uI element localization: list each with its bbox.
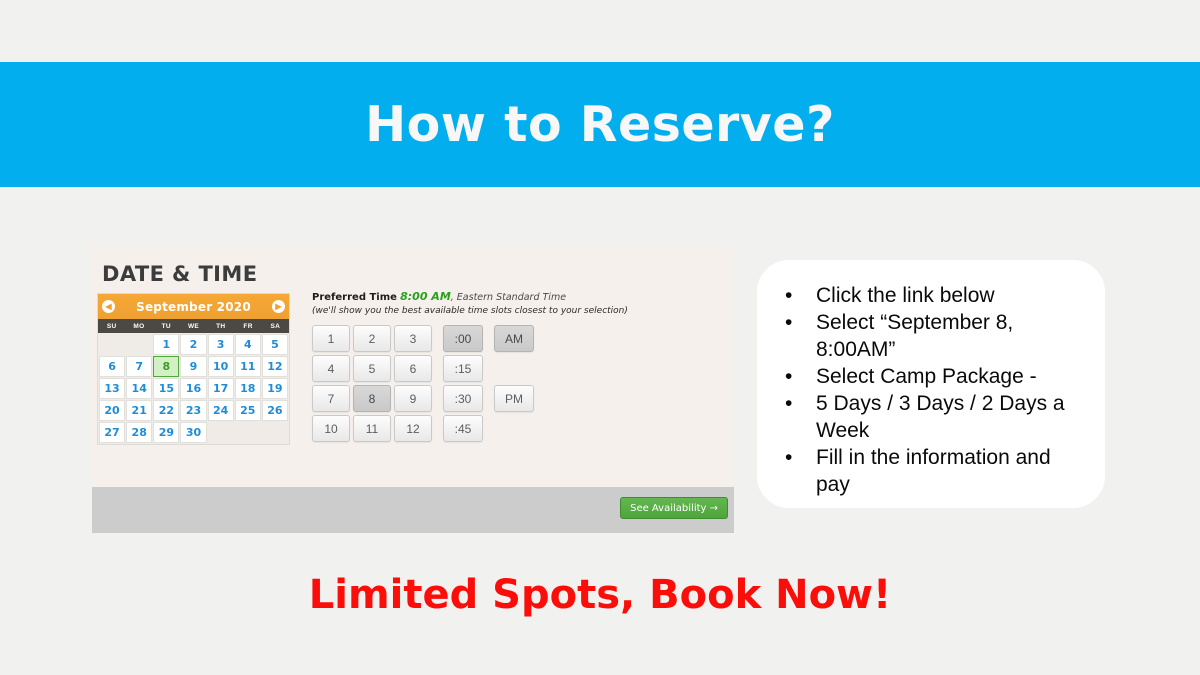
calendar-day[interactable]: 29 <box>153 422 179 443</box>
hour-button[interactable]: 2 <box>353 325 391 352</box>
footer-headline: Limited Spots, Book Now! <box>0 572 1200 618</box>
chevron-left-icon[interactable]: ◀ <box>102 300 115 313</box>
calendar-weekday: FR <box>234 319 261 333</box>
minute-button[interactable]: :15 <box>443 355 483 382</box>
hour-button[interactable]: 4 <box>312 355 350 382</box>
minute-button-column: :00:15:30:45 <box>443 325 483 442</box>
hour-button[interactable]: 3 <box>394 325 432 352</box>
calendar-day[interactable]: 25 <box>235 400 261 421</box>
calendar-weekday: SA <box>262 319 289 333</box>
calendar-weekday: TH <box>207 319 234 333</box>
calendar-day[interactable]: 23 <box>180 400 206 421</box>
instruction-text: 5 Days / 3 Days / 2 Days a Week <box>816 390 1089 444</box>
header-banner: How to Reserve? <box>0 62 1200 187</box>
hour-button[interactable]: 5 <box>353 355 391 382</box>
hour-button[interactable]: 11 <box>353 415 391 442</box>
bullet-icon: • <box>779 309 816 363</box>
calendar-day[interactable]: 27 <box>99 422 125 443</box>
calendar-day[interactable]: 22 <box>153 400 179 421</box>
calendar-weekday: WE <box>180 319 207 333</box>
calendar-day[interactable]: 1 <box>153 334 179 355</box>
hour-button-grid: 123456789101112 <box>312 325 432 442</box>
calendar: ◀ September 2020 ▶ SUMOTUWETHFRSA 123456… <box>97 293 290 445</box>
hour-button[interactable]: 9 <box>394 385 432 412</box>
calendar-day[interactable]: 20 <box>99 400 125 421</box>
hour-button[interactable]: 12 <box>394 415 432 442</box>
calendar-day[interactable]: 7 <box>126 356 152 377</box>
calendar-day[interactable]: 10 <box>208 356 234 377</box>
calendar-day[interactable]: 15 <box>153 378 179 399</box>
calendar-day[interactable]: 17 <box>208 378 234 399</box>
instruction-item: •Fill in the information and pay <box>779 444 1089 498</box>
calendar-day[interactable]: 9 <box>180 356 206 377</box>
page-title: How to Reserve? <box>365 96 835 153</box>
calendar-day[interactable]: 12 <box>262 356 288 377</box>
date-time-heading: DATE & TIME <box>102 262 257 286</box>
bullet-icon: • <box>779 363 816 390</box>
calendar-day[interactable]: 19 <box>262 378 288 399</box>
calendar-day[interactable]: 30 <box>180 422 206 443</box>
calendar-weekday: SU <box>98 319 125 333</box>
preferred-time-line: Preferred Time 8:00 AM, Eastern Standard… <box>312 290 628 303</box>
meridiem-button-selected[interactable]: AM <box>494 325 534 352</box>
instructions-callout: •Click the link below•Select “September … <box>757 260 1105 508</box>
widget-footer-bar: See Availability → <box>92 487 734 533</box>
calendar-day[interactable]: 28 <box>126 422 152 443</box>
calendar-day[interactable]: 16 <box>180 378 206 399</box>
hour-button[interactable]: 6 <box>394 355 432 382</box>
minute-button[interactable]: :45 <box>443 415 483 442</box>
calendar-weekday: MO <box>125 319 152 333</box>
calendar-day[interactable]: 2 <box>180 334 206 355</box>
hour-button[interactable]: 1 <box>312 325 350 352</box>
calendar-header: ◀ September 2020 ▶ <box>98 294 289 319</box>
hour-button[interactable]: 7 <box>312 385 350 412</box>
calendar-empty-cell <box>99 334 125 355</box>
minute-button-selected[interactable]: :00 <box>443 325 483 352</box>
calendar-day[interactable]: 14 <box>126 378 152 399</box>
calendar-month-label: September 2020 <box>136 300 251 314</box>
instruction-text: Click the link below <box>816 282 1089 309</box>
chevron-right-icon[interactable]: ▶ <box>272 300 285 313</box>
calendar-day[interactable]: 21 <box>126 400 152 421</box>
calendar-day[interactable]: 3 <box>208 334 234 355</box>
instruction-item: •Click the link below <box>779 282 1089 309</box>
instruction-text: Fill in the information and pay <box>816 444 1089 498</box>
time-picker: Preferred Time 8:00 AM, Eastern Standard… <box>312 290 628 442</box>
calendar-empty-cell <box>126 334 152 355</box>
calendar-day-selected[interactable]: 8 <box>153 356 179 377</box>
instruction-text: Select “September 8, 8:00AM” <box>816 309 1089 363</box>
calendar-day[interactable]: 4 <box>235 334 261 355</box>
instruction-item: •Select “September 8, 8:00AM” <box>779 309 1089 363</box>
widget-body: DATE & TIME ◀ September 2020 ▶ SUMOTUWET… <box>92 246 734 487</box>
calendar-day[interactable]: 18 <box>235 378 261 399</box>
calendar-day[interactable]: 24 <box>208 400 234 421</box>
booking-widget-panel: DATE & TIME ◀ September 2020 ▶ SUMOTUWET… <box>92 246 734 533</box>
see-availability-button[interactable]: See Availability → <box>620 497 728 519</box>
calendar-day[interactable]: 11 <box>235 356 261 377</box>
calendar-weekday: TU <box>153 319 180 333</box>
meridiem-button[interactable]: PM <box>494 385 534 412</box>
instruction-item: •Select Camp Package - <box>779 363 1089 390</box>
timezone-label: , Eastern Standard Time <box>451 292 566 303</box>
hour-button[interactable]: 10 <box>312 415 350 442</box>
hour-button-selected[interactable]: 8 <box>353 385 391 412</box>
calendar-day-grid: 1234567891011121314151617181920212223242… <box>98 333 289 444</box>
instructions-list: •Click the link below•Select “September … <box>779 282 1089 498</box>
calendar-day[interactable]: 5 <box>262 334 288 355</box>
preferred-time-label: Preferred Time <box>312 292 397 303</box>
preferred-time-value: 8:00 AM <box>400 290 451 303</box>
instruction-text: Select Camp Package - <box>816 363 1089 390</box>
meridiem-button-column: AMPM <box>494 325 534 442</box>
time-picker-note: (we'll show you the best available time … <box>312 306 628 316</box>
bullet-icon: • <box>779 282 816 309</box>
time-button-groups: 123456789101112 :00:15:30:45 AMPM <box>312 325 628 442</box>
calendar-day[interactable]: 13 <box>99 378 125 399</box>
bullet-icon: • <box>779 390 816 444</box>
bullet-icon: • <box>779 444 816 498</box>
calendar-day[interactable]: 26 <box>262 400 288 421</box>
instruction-item: •5 Days / 3 Days / 2 Days a Week <box>779 390 1089 444</box>
calendar-day[interactable]: 6 <box>99 356 125 377</box>
calendar-weekday-row: SUMOTUWETHFRSA <box>98 319 289 333</box>
minute-button[interactable]: :30 <box>443 385 483 412</box>
